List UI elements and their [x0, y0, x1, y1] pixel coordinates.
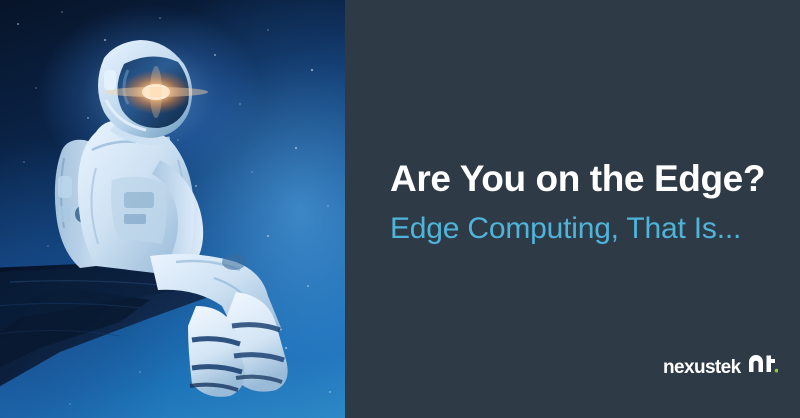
- text-panel: Are You on the Edge? Edge Computing, Tha…: [345, 0, 800, 418]
- astronaut-illustration: [0, 0, 345, 418]
- nexustek-logo[interactable]: nexustek: [663, 353, 778, 379]
- nt-mark-icon: [748, 353, 778, 373]
- helmet: [98, 40, 208, 142]
- edge-computing-banner: Are You on the Edge? Edge Computing, Tha…: [0, 0, 800, 418]
- page-title: Are You on the Edge?: [390, 158, 765, 200]
- page-subtitle: Edge Computing, That Is...: [390, 212, 741, 246]
- logo-wordmark: nexustek: [663, 357, 741, 379]
- astronaut-space-artwork: [0, 0, 345, 418]
